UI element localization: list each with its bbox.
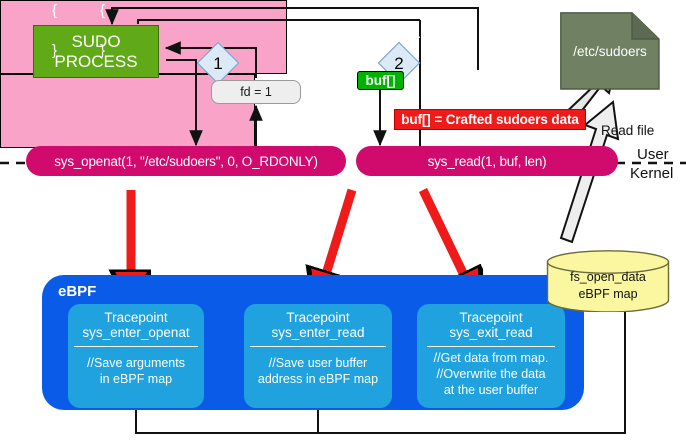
tracepoint-sys-enter-openat[interactable]: Tracepoint sys_enter_openat //Save argum… (68, 304, 204, 408)
tracepoint-1-name: sys_enter_openat (72, 325, 200, 341)
crafted-sudoers-banner: buf[] = Crafted sudoers data (394, 109, 586, 130)
tracepoint-sys-enter-read[interactable]: Tracepoint sys_enter_read //Save user bu… (244, 304, 392, 408)
sys-read-body-text: [...] Read file [...] (0, 26, 686, 41)
sys-openat-open-brace: { (100, 2, 105, 19)
tracepoint-2-divider (250, 346, 386, 347)
tracepoint-3-comment-3: at the user buffer (420, 383, 562, 398)
ebpf-map-kind: eBPF map (546, 286, 670, 303)
sys-read-close-brace: } (52, 42, 57, 59)
tracepoint-2-kind: Tracepoint (248, 310, 388, 326)
ebpf-container-label: eBPF (58, 283, 96, 300)
sys-read-open-brace: { (52, 2, 57, 19)
tracepoint-3-comment-1: //Get data from map. (420, 351, 562, 366)
sys-openat-close-brace: } (100, 42, 105, 59)
tracepoint-1-comment-1: //Save arguments (71, 356, 201, 371)
tracepoint-2-comment-2: address in eBPF map (247, 372, 389, 387)
sys-read-signature[interactable]: sys_read(1, buf, len) (356, 146, 618, 176)
step-marker-1-label: 1 (204, 49, 232, 77)
tracepoint-1-kind: Tracepoint (72, 310, 200, 326)
kernel-space-label: Kernel (630, 165, 673, 182)
tracepoint-2-comment-1: //Save user buffer (247, 356, 389, 371)
ebpf-map-cylinder: fs_open_data eBPF map (546, 250, 670, 312)
tracepoint-3-divider (427, 346, 555, 347)
sudo-to-openat-arrow (166, 60, 196, 145)
sys-read-signature-label: sys_read(1, buf, len) (428, 154, 547, 169)
etc-sudoers-file: /etc/sudoers (560, 12, 660, 90)
return-path-inner-top (138, 20, 420, 24)
tracepoint-sys-exit-read[interactable]: Tracepoint sys_exit_read //Get data from… (417, 304, 565, 408)
read-file-caption: Read file (601, 123, 654, 138)
tracepoint-3-kind: Tracepoint (421, 310, 561, 326)
tracepoint-1-divider (74, 346, 198, 347)
tracepoint-3-name: sys_exit_read (421, 325, 561, 341)
sudo-process-line2: PROCESS (54, 52, 137, 72)
tracepoint-2-name: sys_enter_read (248, 325, 388, 341)
fd-value-badge: fd = 1 (211, 80, 301, 104)
crafted-sudoers-label: buf[] = Crafted sudoers data (401, 112, 579, 127)
diagram-canvas: SUDO PROCESS 1 2 fd = 1 buf[] buf[] = Cr… (0, 0, 686, 447)
tracepoint-1-comment-2: in eBPF map (71, 372, 201, 387)
fd-value-label: fd = 1 (240, 85, 272, 99)
buf-badge: buf[] (357, 71, 404, 90)
sys-openat-signature-label: sys_openat(1, "/etc/sudoers", 0, O_RDONL… (54, 154, 318, 169)
sys-openat-signature[interactable]: sys_openat(1, "/etc/sudoers", 0, O_RDONL… (26, 146, 346, 176)
ebpf-map-name: fs_open_data (546, 269, 670, 286)
buf-badge-label: buf[] (366, 73, 396, 88)
etc-sudoers-label: /etc/sudoers (560, 44, 660, 59)
tracepoint-3-comment-2: //Overwrite the data (420, 367, 562, 382)
user-space-label: User (637, 146, 669, 163)
